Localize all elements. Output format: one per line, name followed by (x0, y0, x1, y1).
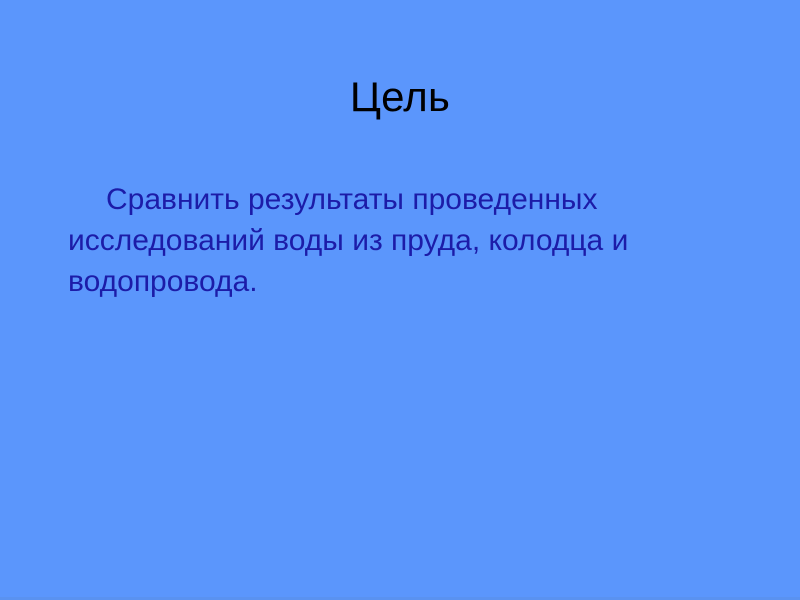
slide-body-text: Сравнить результаты проведенных исследов… (68, 179, 688, 302)
presentation-slide: Цель Сравнить результаты проведенных исс… (0, 0, 800, 600)
page-title: Цель (0, 71, 800, 123)
